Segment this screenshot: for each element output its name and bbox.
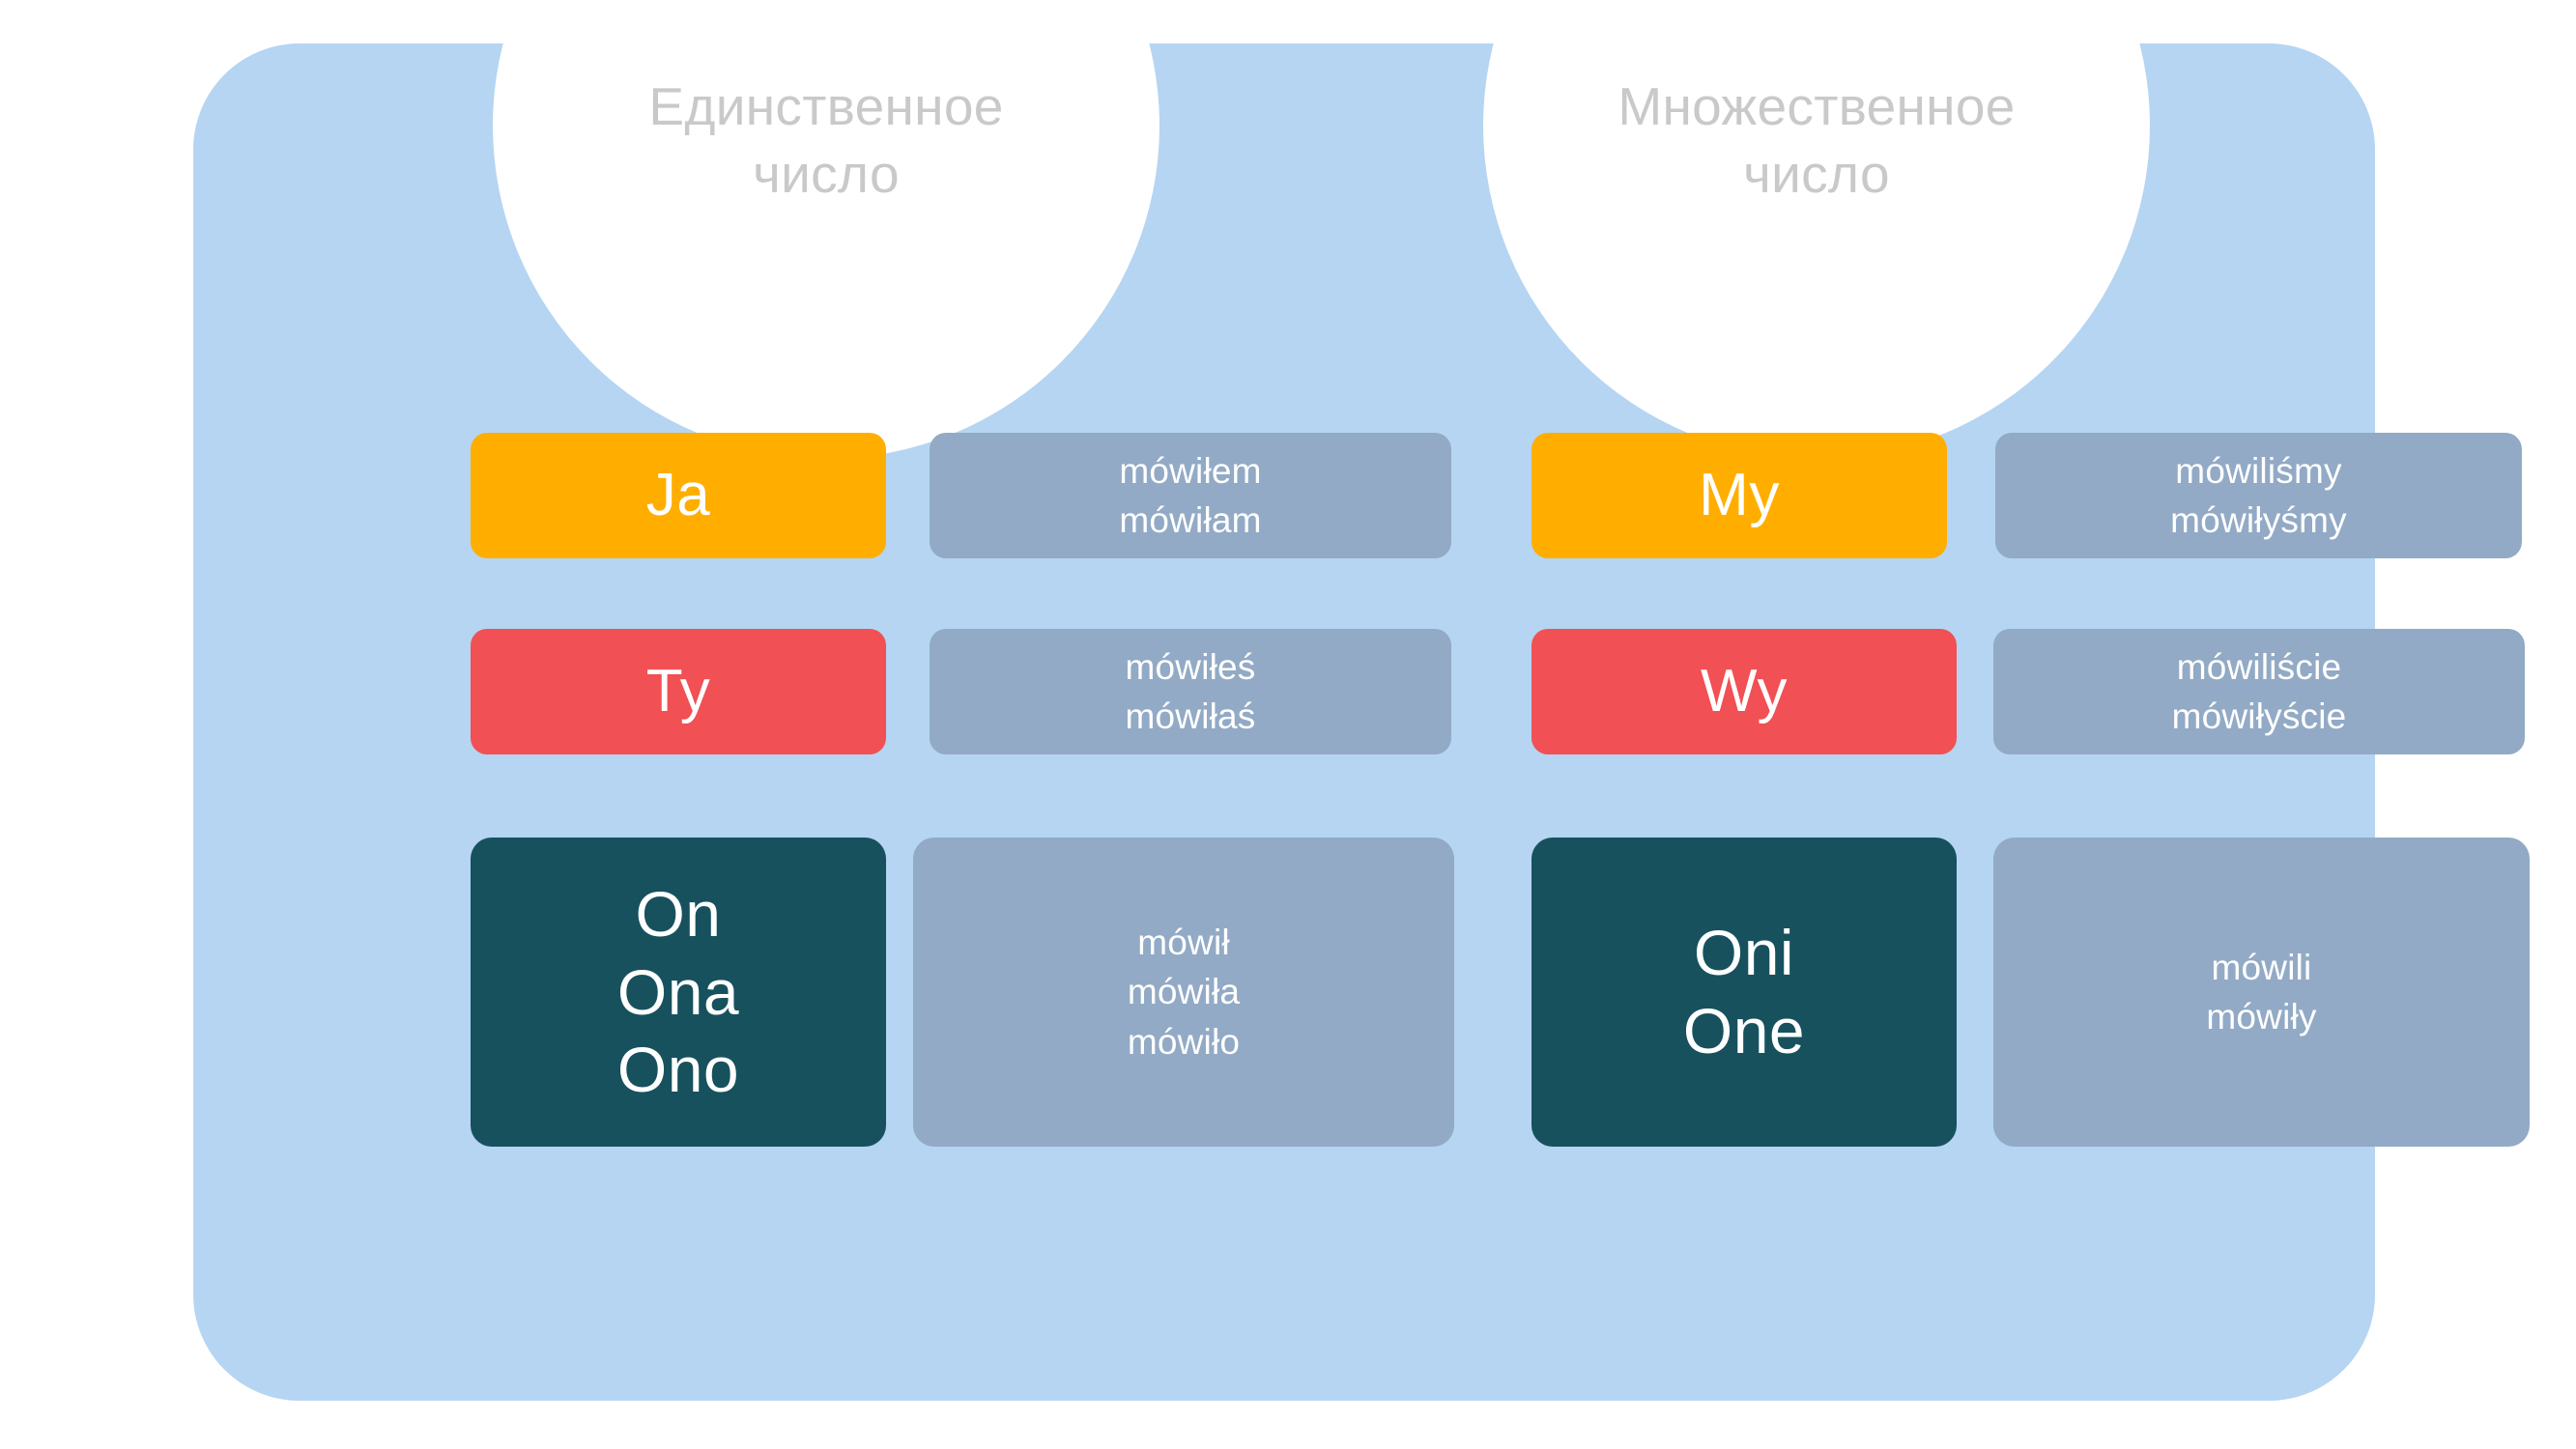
pronoun-card-wy[interactable]: Wy (1531, 629, 1957, 754)
table-row: Ja mówiłem mówiłam (471, 433, 1454, 558)
conjugation-card-ty[interactable]: mówiłeś mówiłaś (930, 629, 1451, 754)
pronoun-card-my[interactable]: My (1531, 433, 1947, 558)
singular-column: Ja mówiłem mówiłam Ty mówiłeś mówiłaś On… (471, 433, 1454, 1147)
conjugation-card-oni-one[interactable]: mówili mówiły (1993, 838, 2530, 1147)
pronoun-card-ja[interactable]: Ja (471, 433, 886, 558)
conjugation-card-on-ona-ono[interactable]: mówił mówiła mówiło (913, 838, 1454, 1147)
conjugation-card-ja[interactable]: mówiłem mówiłam (930, 433, 1451, 558)
pronoun-card-on-ona-ono[interactable]: On Ona Ono (471, 838, 886, 1147)
conjugation-card-my[interactable]: mówiliśmy mówiłyśmy (1995, 433, 2522, 558)
conjugation-panel: Единственное число Множественное число J… (193, 43, 2375, 1401)
pronoun-card-oni-one[interactable]: Oni One (1531, 838, 1957, 1147)
singular-header-cutout: Единственное число (493, 0, 1159, 459)
table-row: On Ona Ono mówił mówiła mówiło (471, 838, 1454, 1147)
pronoun-card-ty[interactable]: Ty (471, 629, 886, 754)
table-row: Oni One mówili mówiły (1531, 838, 2530, 1147)
conjugation-card-wy[interactable]: mówiliście mówiłyście (1993, 629, 2525, 754)
table-row: Ty mówiłeś mówiłaś (471, 629, 1454, 754)
singular-header-label: Единственное число (493, 72, 1159, 209)
plural-header-label: Множественное число (1483, 72, 2150, 209)
table-row: My mówiliśmy mówiłyśmy (1531, 433, 2530, 558)
plural-header-cutout: Множественное число (1483, 0, 2150, 459)
plural-column: My mówiliśmy mówiłyśmy Wy mówiliście mów… (1531, 433, 2530, 1147)
table-row: Wy mówiliście mówiłyście (1531, 629, 2530, 754)
